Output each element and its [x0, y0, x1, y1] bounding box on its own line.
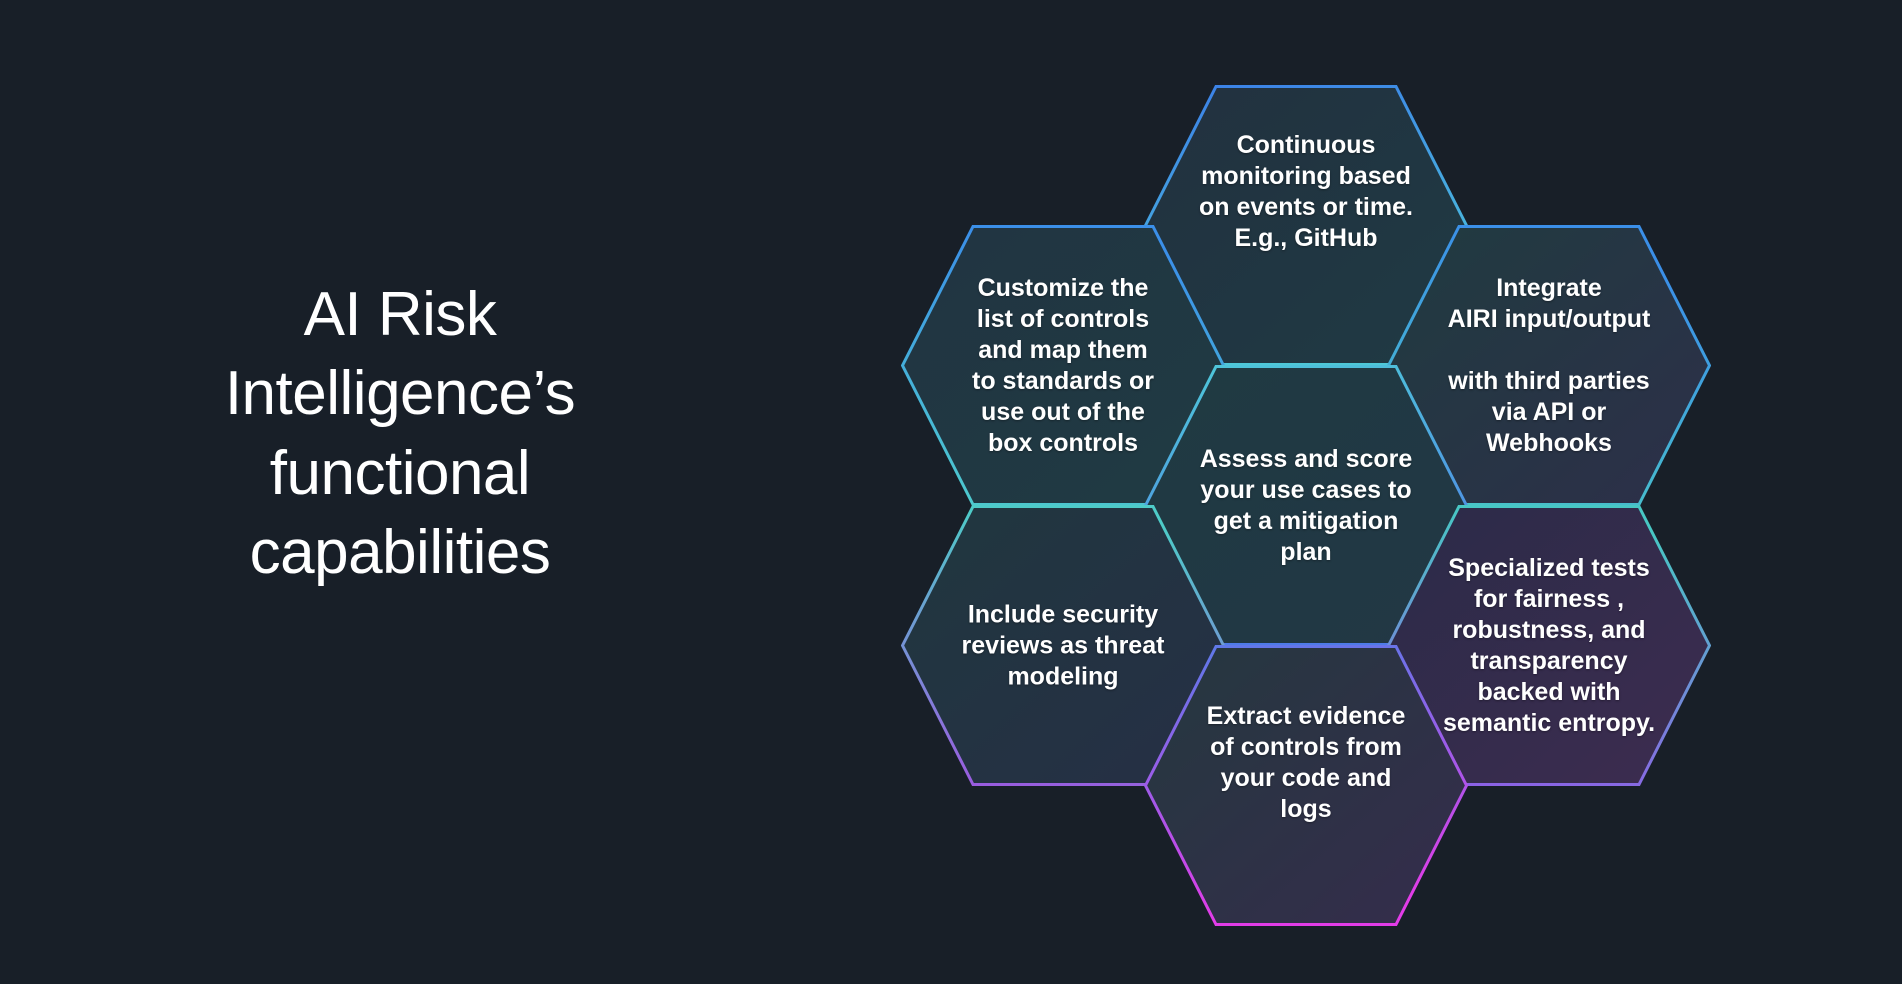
hexagon-shape [1144, 645, 1468, 926]
honeycomb-diagram: Continuous monitoring based on events or… [0, 0, 1902, 984]
slide-canvas: AI Risk Intelligence’s functional capabi… [0, 0, 1902, 984]
hex-extract-evidence[interactable]: Extract evidence of controls from your c… [1144, 645, 1468, 926]
